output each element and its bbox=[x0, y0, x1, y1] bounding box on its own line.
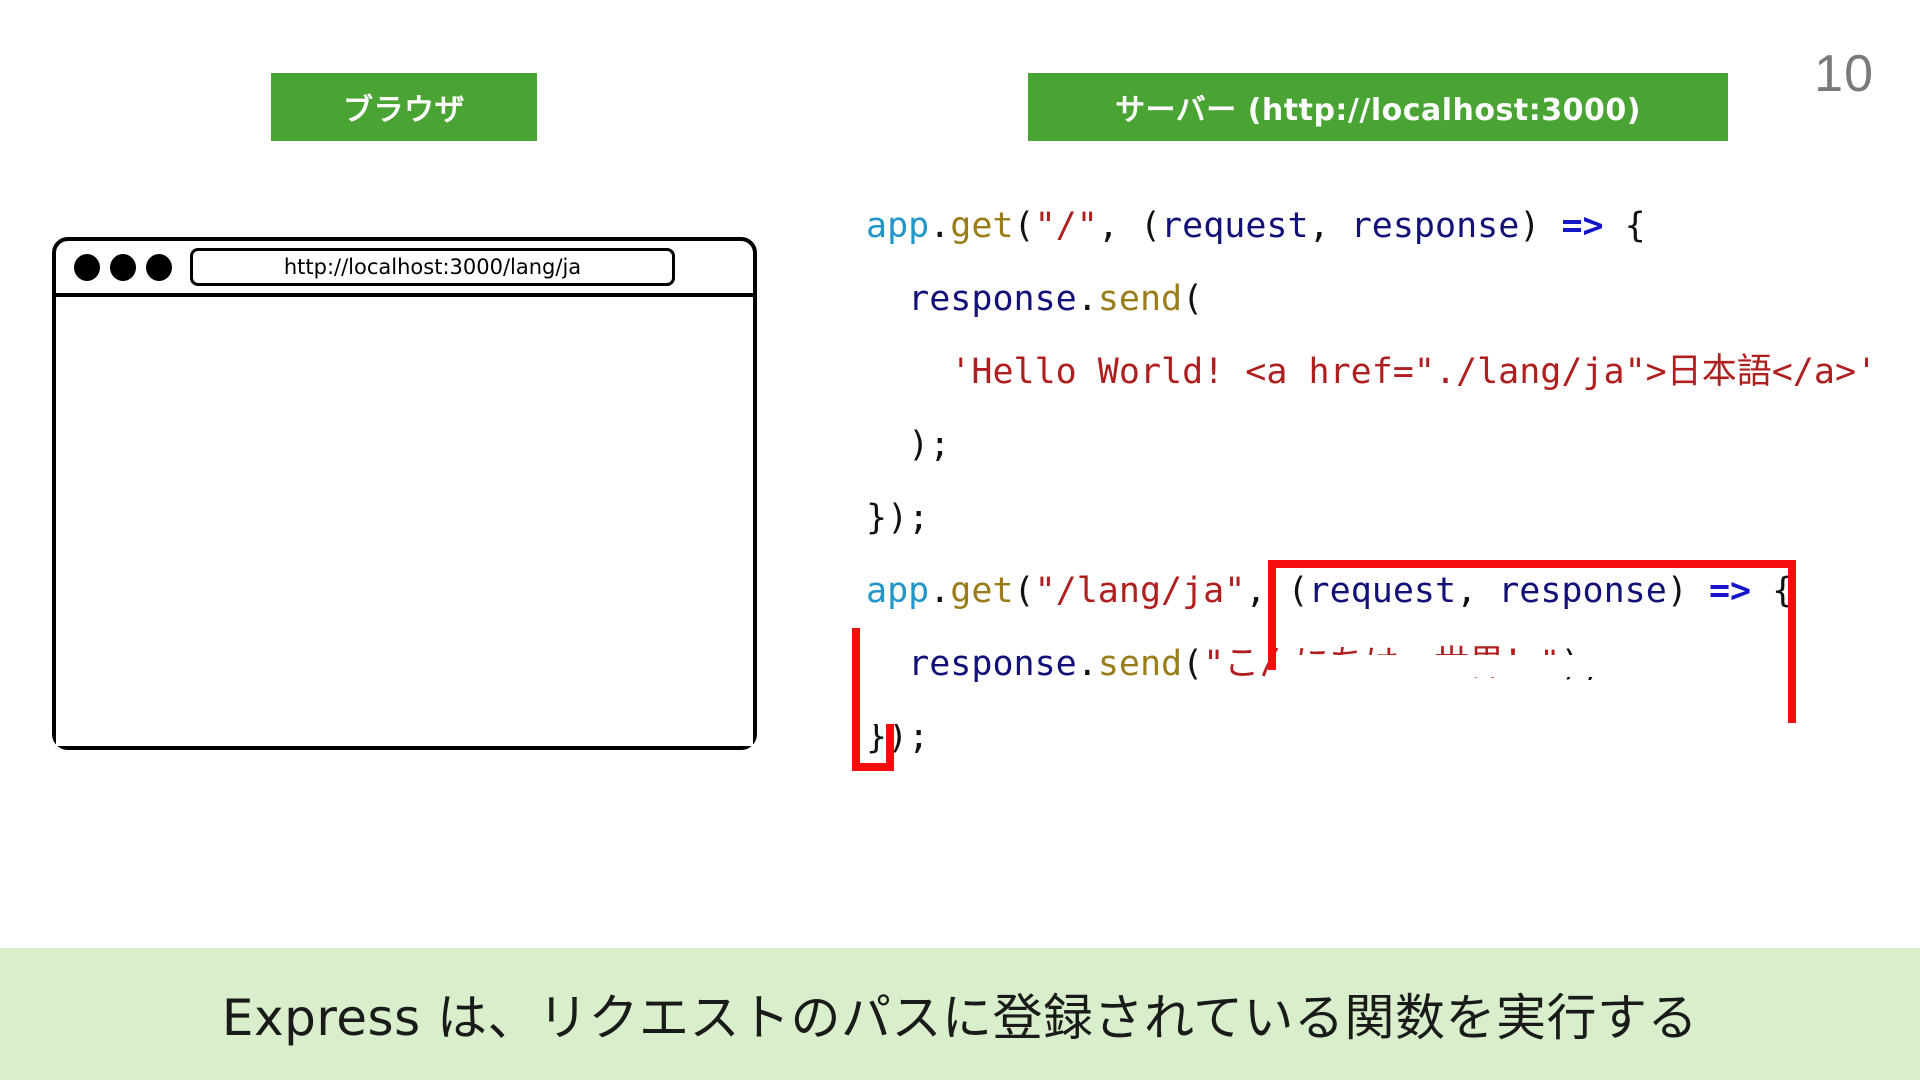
server-code-block: app.get("/", (request, response) => { re… bbox=[866, 190, 1877, 774]
browser-viewport bbox=[56, 297, 753, 746]
code-line: }); bbox=[866, 701, 1877, 774]
server-column-header-label: サーバー (http://localhost:3000) bbox=[1115, 85, 1641, 129]
window-maximize-dot-icon[interactable] bbox=[146, 254, 172, 281]
code-token: app bbox=[866, 571, 929, 611]
page-number: 10 bbox=[1814, 48, 1874, 100]
browser-column-header: ブラウザ bbox=[271, 73, 537, 141]
caption-text: Express は、リクエストのパスに登録されている関数を実行する bbox=[222, 978, 1698, 1050]
code-line: response.send("こんにちは、世界！"); bbox=[866, 628, 1877, 701]
window-minimize-dot-icon[interactable] bbox=[110, 254, 136, 281]
code-token: ( bbox=[1014, 571, 1035, 611]
code-token bbox=[1540, 206, 1561, 246]
code-token: , bbox=[1245, 571, 1287, 611]
code-token: get bbox=[950, 571, 1013, 611]
code-token: => bbox=[1709, 571, 1751, 611]
code-token: response bbox=[908, 644, 1077, 684]
url-bar[interactable]: http://localhost:3000/lang/ja bbox=[190, 248, 675, 286]
code-token: 'Hello World! <a href="./lang/ja">日本語</a… bbox=[950, 352, 1877, 392]
browser-column-header-label: ブラウザ bbox=[343, 85, 465, 129]
code-line: 'Hello World! <a href="./lang/ja">日本語</a… bbox=[866, 336, 1877, 409]
code-line: app.get("/lang/ja", (request, response) … bbox=[866, 555, 1877, 628]
code-token: => bbox=[1561, 206, 1603, 246]
code-token: ( bbox=[1140, 206, 1161, 246]
code-token: . bbox=[929, 571, 950, 611]
code-line: response.send( bbox=[866, 263, 1877, 336]
code-token: send bbox=[1098, 279, 1182, 319]
code-token: send bbox=[1098, 644, 1182, 684]
code-token: { bbox=[1751, 571, 1793, 611]
code-token: ( bbox=[1182, 279, 1203, 319]
code-line: ); bbox=[866, 409, 1877, 482]
code-token: app bbox=[866, 206, 929, 246]
code-token: , bbox=[1098, 206, 1140, 246]
code-token: response bbox=[1351, 206, 1520, 246]
code-token: ( bbox=[1182, 644, 1203, 684]
code-token: "こんにちは、世界！" bbox=[1203, 644, 1560, 684]
code-token bbox=[1688, 571, 1709, 611]
code-token: , bbox=[1309, 206, 1351, 246]
code-token: request bbox=[1161, 206, 1309, 246]
code-token: ); bbox=[1560, 644, 1602, 684]
code-token: . bbox=[1077, 279, 1098, 319]
code-token: request bbox=[1309, 571, 1457, 611]
code-token: "/" bbox=[1035, 206, 1098, 246]
browser-mock-window: http://localhost:3000/lang/ja bbox=[52, 237, 757, 750]
code-token: ( bbox=[1287, 571, 1308, 611]
code-token: get bbox=[950, 206, 1013, 246]
code-token: , bbox=[1456, 571, 1498, 611]
server-column-header: サーバー (http://localhost:3000) bbox=[1028, 73, 1728, 141]
code-token: . bbox=[1077, 644, 1098, 684]
code-token: response bbox=[908, 279, 1077, 319]
code-token: { bbox=[1604, 206, 1646, 246]
code-token: }); bbox=[866, 717, 929, 757]
code-line: app.get("/", (request, response) => { bbox=[866, 190, 1877, 263]
code-line: }); bbox=[866, 482, 1877, 555]
code-token: response bbox=[1498, 571, 1667, 611]
url-text: http://localhost:3000/lang/ja bbox=[284, 255, 581, 279]
code-token: ( bbox=[1014, 206, 1035, 246]
browser-chrome-bar: http://localhost:3000/lang/ja bbox=[56, 241, 753, 297]
window-close-dot-icon[interactable] bbox=[74, 254, 100, 281]
code-token: ) bbox=[1667, 571, 1688, 611]
code-token: ) bbox=[1519, 206, 1540, 246]
code-token: }); bbox=[866, 498, 929, 538]
code-token: . bbox=[929, 206, 950, 246]
code-token: "/lang/ja" bbox=[1035, 571, 1246, 611]
caption-band: Express は、リクエストのパスに登録されている関数を実行する bbox=[0, 948, 1920, 1080]
code-token: ); bbox=[908, 425, 950, 465]
window-control-dots bbox=[74, 254, 172, 281]
